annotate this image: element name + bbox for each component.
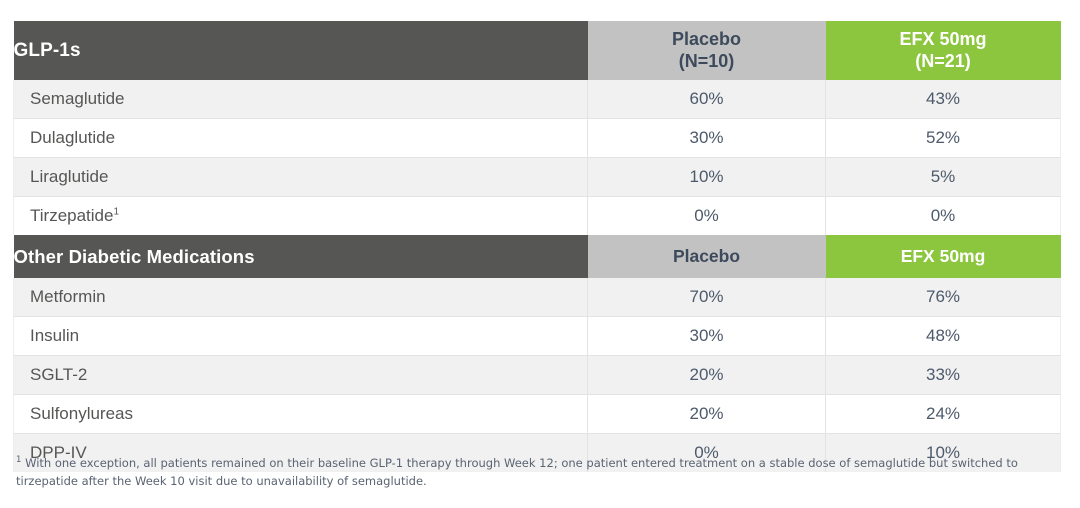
row-label: Semaglutide [14,80,588,119]
cell-placebo-value: 30% [588,317,826,356]
cell-efx-value: 76% [826,278,1061,317]
cell-placebo-value: 20% [588,395,826,434]
column-header-placebo-1: Placebo (N=10) [588,21,826,80]
section-header-row-other-medications: Other Diabetic Medications Placebo EFX 5… [14,235,1061,278]
slide-canvas: GLP-1s Placebo (N=10) EFX 50mg (N=21) Se… [0,0,1080,508]
footnote-text: With one exception, all patients remaine… [16,456,1018,488]
table-row: SGLT-2 20% 33% [14,356,1061,395]
row-label-text: SGLT-2 [30,365,87,384]
table-row: Sulfonylureas 20% 24% [14,395,1061,434]
cell-placebo-value: 10% [588,158,826,197]
row-label: SGLT-2 [14,356,588,395]
section-title-glp1s: GLP-1s [14,21,588,80]
cell-efx-value: 43% [826,80,1061,119]
row-label-text: Liraglutide [30,167,108,186]
cell-placebo-value: 30% [588,119,826,158]
row-label: Metformin [14,278,588,317]
table-row: Insulin 30% 48% [14,317,1061,356]
footnote: 1 With one exception, all patients remai… [16,455,1046,491]
table-row: Liraglutide 10% 5% [14,158,1061,197]
cell-efx-value: 52% [826,119,1061,158]
row-label: Liraglutide [14,158,588,197]
column-header-efx-1-line1: EFX 50mg [826,29,1061,51]
row-label-text: Semaglutide [30,89,125,108]
column-header-placebo-1-line2: (N=10) [588,51,826,73]
table-section-other-diabetic-medications: Other Diabetic Medications Placebo EFX 5… [14,235,1061,472]
row-label: Tirzepatide1 [14,197,588,236]
cell-efx-value: 5% [826,158,1061,197]
medications-table: GLP-1s Placebo (N=10) EFX 50mg (N=21) Se… [13,21,1061,472]
column-header-placebo-1-line1: Placebo [588,29,826,51]
section-header-row-glp1s: GLP-1s Placebo (N=10) EFX 50mg (N=21) [14,21,1061,80]
row-label-text: Metformin [30,287,106,306]
row-label-text: Dulaglutide [30,128,115,147]
section-title-other-medications: Other Diabetic Medications [14,235,588,278]
column-header-efx-2: EFX 50mg [826,235,1061,278]
table-row: Semaglutide 60% 43% [14,80,1061,119]
column-header-efx-2-line1: EFX 50mg [826,246,1061,267]
row-label-text: Insulin [30,326,79,345]
column-header-placebo-2-line1: Placebo [588,246,826,267]
cell-placebo-value: 20% [588,356,826,395]
cell-efx-value: 33% [826,356,1061,395]
table-row: Metformin 70% 76% [14,278,1061,317]
cell-efx-value: 0% [826,197,1061,236]
row-label-text: Sulfonylureas [30,404,133,423]
cell-placebo-value: 60% [588,80,826,119]
row-label: Dulaglutide [14,119,588,158]
cell-efx-value: 48% [826,317,1061,356]
table-row: Dulaglutide 30% 52% [14,119,1061,158]
medications-table-container: GLP-1s Placebo (N=10) EFX 50mg (N=21) Se… [13,21,1060,472]
table-row: Tirzepatide1 0% 0% [14,197,1061,236]
column-header-efx-1: EFX 50mg (N=21) [826,21,1061,80]
row-label: Sulfonylureas [14,395,588,434]
footnote-marker-superscript: 1 [113,206,119,217]
row-label: Insulin [14,317,588,356]
cell-efx-value: 24% [826,395,1061,434]
cell-placebo-value: 70% [588,278,826,317]
cell-placebo-value: 0% [588,197,826,236]
column-header-efx-1-line2: (N=21) [826,51,1061,73]
row-label-text: Tirzepatide [30,206,113,225]
column-header-placebo-2: Placebo [588,235,826,278]
table-section-glp1s: GLP-1s Placebo (N=10) EFX 50mg (N=21) Se… [14,21,1061,235]
footnote-marker: 1 [16,455,21,465]
